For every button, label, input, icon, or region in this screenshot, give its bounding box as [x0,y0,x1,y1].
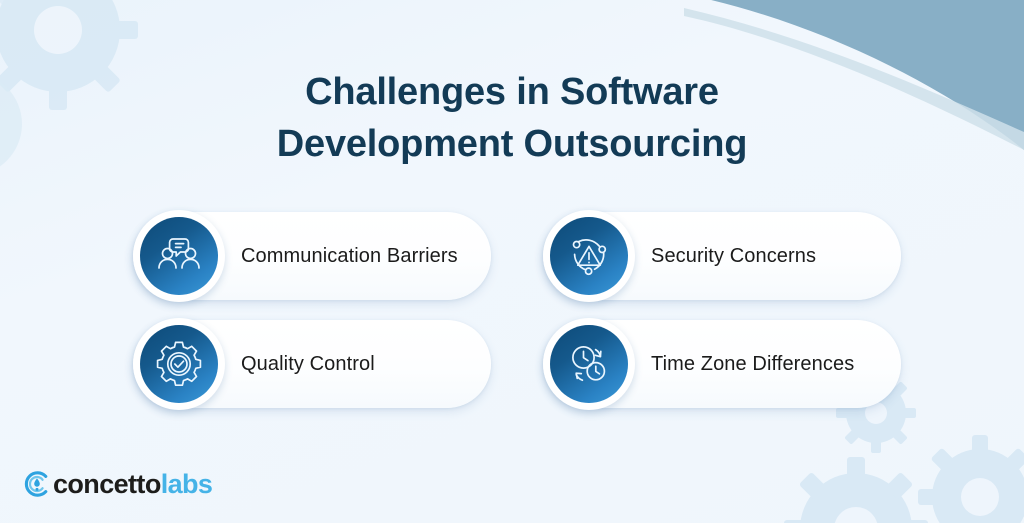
icon-badge [133,210,225,302]
icon-badge [133,318,225,410]
infographic-slide: Challenges in Software Development Outso… [0,0,1024,523]
two-clocks-arrows-icon [550,325,628,403]
brand-logo[interactable]: concettolabs [22,467,212,501]
challenge-card-grid: Communication Barriers [133,212,923,408]
challenge-card-label: Communication Barriers [241,245,458,268]
challenge-card-label: Time Zone Differences [651,353,854,376]
warning-triangle-network-icon [550,217,628,295]
challenge-card-quality-control[interactable]: Quality Control [133,320,491,408]
brand-name-primary: concetto [53,469,161,499]
icon-badge [543,210,635,302]
page-title: Challenges in Software Development Outso… [0,67,1024,170]
people-speech-bubble-icon [140,217,218,295]
challenge-card-communication-barriers[interactable]: Communication Barriers [133,212,491,300]
challenge-card-label: Security Concerns [651,245,816,268]
page-title-line-1: Challenges in Software [0,67,1024,119]
icon-badge [543,318,635,410]
brand-logo-text: concettolabs [53,471,212,498]
brand-name-secondary: labs [161,469,213,499]
page-title-line-2: Development Outsourcing [0,119,1024,171]
challenge-card-label: Quality Control [241,353,375,376]
challenge-card-security-concerns[interactable]: Security Concerns [543,212,901,300]
concetto-circle-icon [22,469,52,499]
challenge-card-time-zone-differences[interactable]: Time Zone Differences [543,320,901,408]
gear-checkmark-icon [140,325,218,403]
